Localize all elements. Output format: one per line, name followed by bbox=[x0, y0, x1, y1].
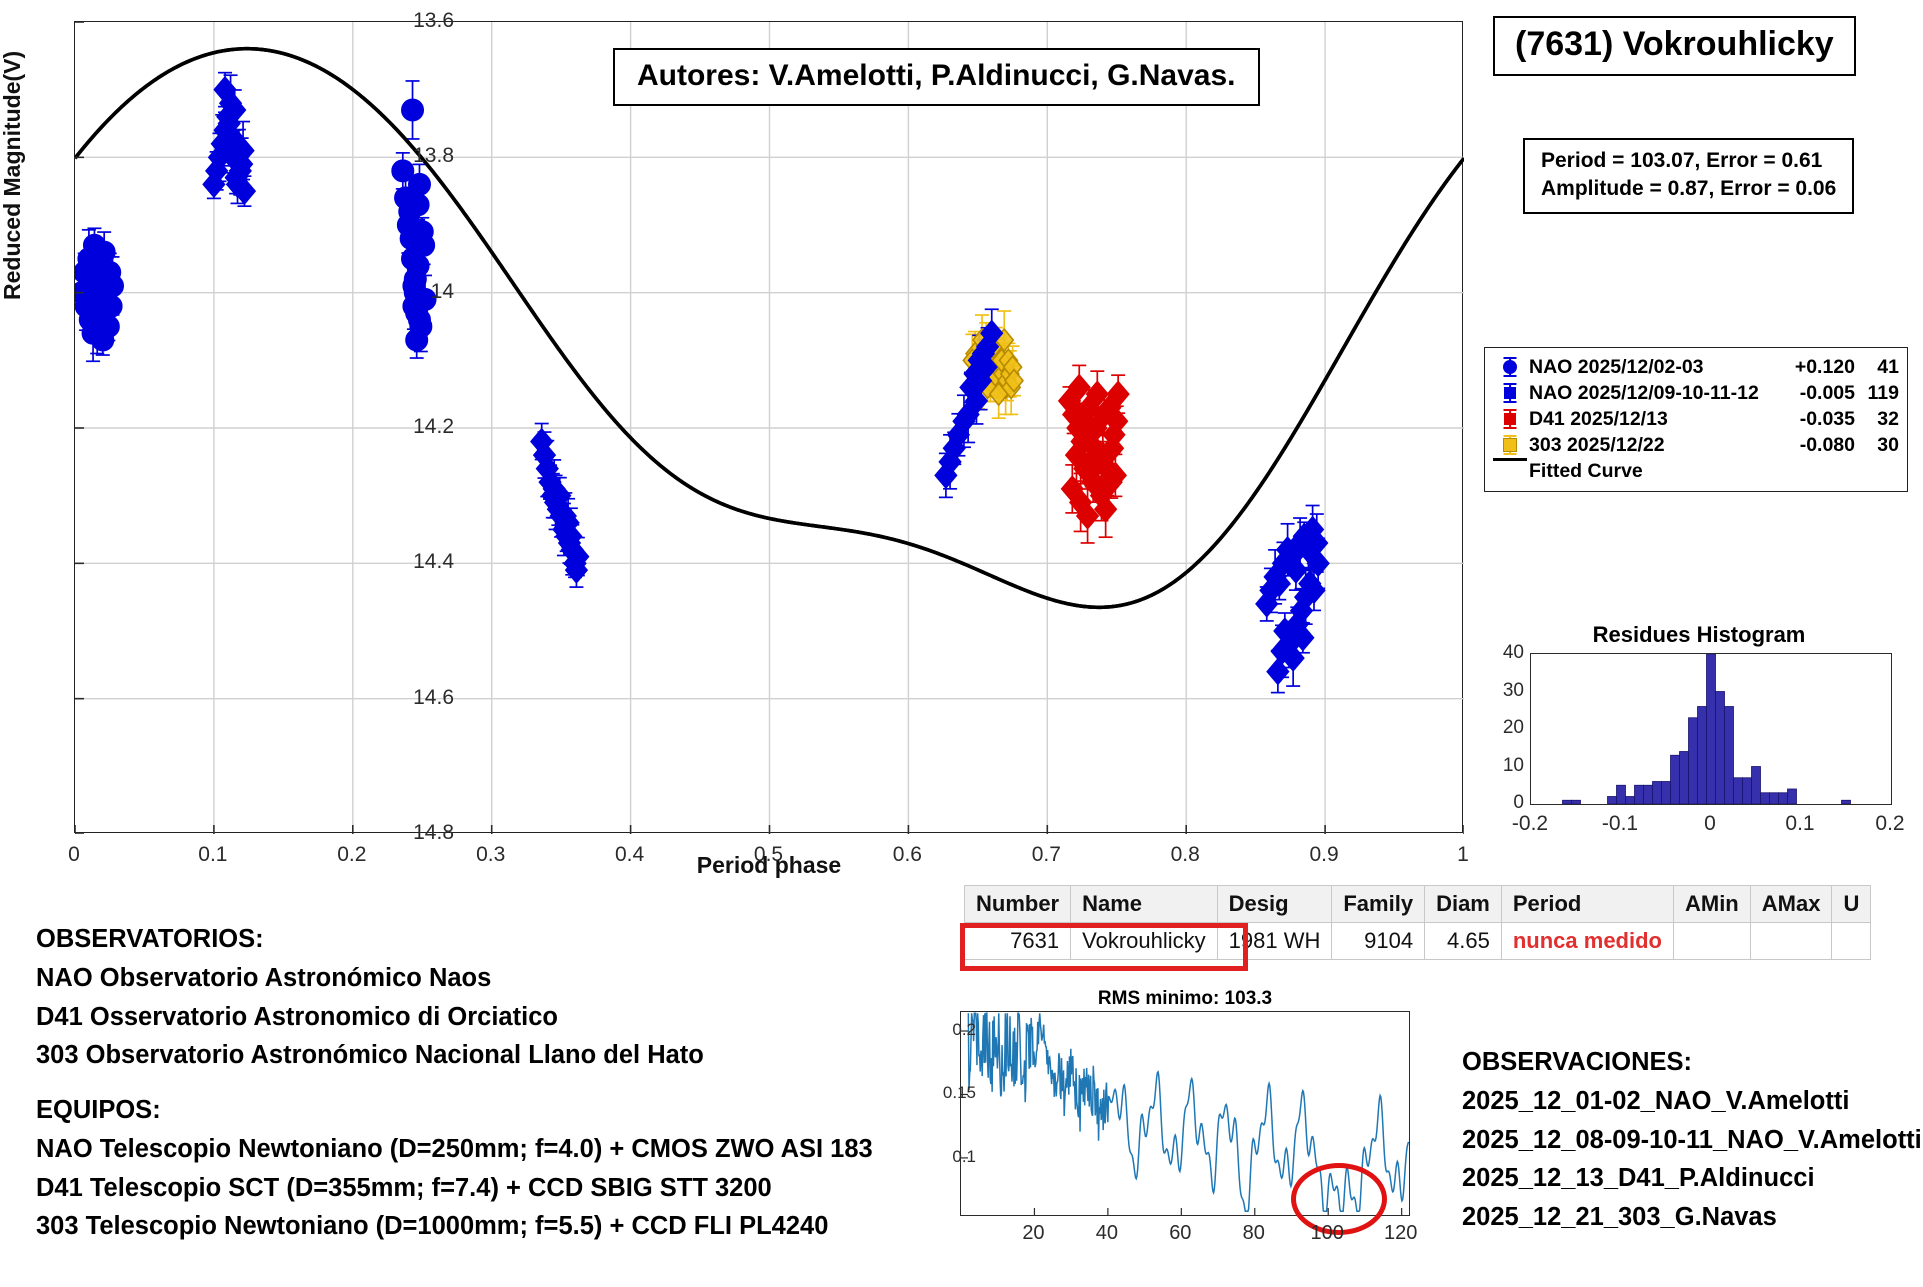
histogram-y-tick-label: 0 bbox=[1513, 792, 1524, 814]
amplitude-line: Amplitude = 0.87, Error = 0.06 bbox=[1541, 175, 1836, 203]
legend-errorbar-cap-icon bbox=[1504, 435, 1517, 437]
period-line: Period = 103.07, Error = 0.61 bbox=[1541, 147, 1836, 175]
observatorios-line-1: D41 Osservatorio Astronomico di Orciatic… bbox=[36, 998, 873, 1037]
diamond-marker-icon bbox=[1503, 438, 1517, 452]
legend-item-3[interactable]: 303 2025/12/22-0.08030 bbox=[1485, 432, 1907, 458]
rms-x-tick-label: 120 bbox=[1384, 1222, 1417, 1245]
histogram-x-tick-label: 0 bbox=[1704, 812, 1716, 836]
x-tick-label: 0.2 bbox=[337, 843, 366, 867]
diamond-marker-icon bbox=[1504, 387, 1516, 399]
table-row[interactable]: 7631Vokrouhlicky1981 WH91044.65nunca med… bbox=[965, 923, 1871, 960]
legend-series-name: NAO 2025/12/09-10-11-12 bbox=[1529, 382, 1781, 405]
y-tick-label: 14.2 bbox=[413, 415, 454, 439]
rms-x-tick-label: 80 bbox=[1243, 1222, 1265, 1245]
histogram-x-tick-label: 0.1 bbox=[1785, 812, 1814, 836]
rms-x-tick-label: 40 bbox=[1096, 1222, 1118, 1245]
table-cell-name: Vokrouhlicky bbox=[1071, 923, 1218, 960]
asteroid-info-table: NumberNameDesigFamilyDiamPeriodAMinAMaxU… bbox=[964, 885, 1871, 960]
observaciones-line-2: 2025_12_13_D41_P.Aldinucci bbox=[1462, 1159, 1922, 1198]
legend-fitted-curve-label: Fitted Curve bbox=[1529, 460, 1899, 483]
legend-marker-icon bbox=[1491, 432, 1529, 458]
histogram-y-tick-label: 20 bbox=[1503, 717, 1524, 739]
x-tick-label: 0.9 bbox=[1309, 843, 1338, 867]
equipos-heading: EQUIPOS: bbox=[36, 1091, 873, 1130]
y-tick-label: 13.6 bbox=[413, 9, 454, 33]
legend-item-1[interactable]: NAO 2025/12/09-10-11-12-0.005119 bbox=[1485, 380, 1907, 406]
x-tick-label: 0 bbox=[68, 843, 80, 867]
y-tick-label: 13.8 bbox=[413, 144, 454, 168]
period-amplitude-box: Period = 103.07, Error = 0.61 Amplitude … bbox=[1523, 138, 1854, 214]
x-tick-label: 0.1 bbox=[198, 843, 227, 867]
residues-histogram-panel: Residues Histogram 010203040-0.2-0.100.1… bbox=[1484, 622, 1914, 868]
chart-legend: NAO 2025/12/02-03+0.12041NAO 2025/12/09-… bbox=[1484, 347, 1908, 492]
table-cell-desig: 1981 WH bbox=[1217, 923, 1332, 960]
x-axis-label: Period phase bbox=[697, 852, 841, 879]
x-tick-label: 0.4 bbox=[615, 843, 644, 867]
observatorios-line-2: 303 Observatorio Astronómico Nacional Ll… bbox=[36, 1036, 873, 1075]
x-tick-label: 0.6 bbox=[893, 843, 922, 867]
table-header-period: Period bbox=[1501, 886, 1673, 923]
rms-y-tick-label: 0.1 bbox=[952, 1147, 976, 1167]
legend-series-count: 41 bbox=[1855, 356, 1899, 379]
observatorios-line-0: NAO Observatorio Astronómico Naos bbox=[36, 959, 873, 998]
observatorios-equipos-block: OBSERVATORIOS: NAO Observatorio Astronóm… bbox=[36, 920, 873, 1246]
table-cell-diam: 4.65 bbox=[1425, 923, 1502, 960]
rms-y-tick-label: 0.15 bbox=[943, 1083, 976, 1103]
lightcurve-plot-panel bbox=[74, 21, 1463, 833]
legend-series-count: 119 bbox=[1855, 382, 1899, 405]
table-header-amin: AMin bbox=[1673, 886, 1750, 923]
legend-line-icon bbox=[1491, 458, 1529, 484]
rms-x-tick-label: 20 bbox=[1022, 1222, 1044, 1245]
table-cell-number: 7631 bbox=[965, 923, 1071, 960]
legend-series-name: 303 2025/12/22 bbox=[1529, 434, 1781, 457]
table-cell-u bbox=[1832, 923, 1871, 960]
legend-errorbar-cap-icon bbox=[1504, 383, 1517, 385]
table-cell-amin bbox=[1673, 923, 1750, 960]
legend-series-offset: -0.080 bbox=[1781, 434, 1855, 457]
legend-item-0[interactable]: NAO 2025/12/02-03+0.12041 bbox=[1485, 354, 1907, 380]
residues-histogram-title: Residues Histogram bbox=[1593, 622, 1806, 648]
legend-item-2[interactable]: D41 2025/12/13-0.03532 bbox=[1485, 406, 1907, 432]
table-header-u: U bbox=[1832, 886, 1871, 923]
x-tick-label: 0.8 bbox=[1171, 843, 1200, 867]
rms-periodogram-title: RMS minimo: 103.3 bbox=[1098, 988, 1272, 1010]
table-header-amax: AMax bbox=[1750, 886, 1832, 923]
observaciones-heading: OBSERVACIONES: bbox=[1462, 1043, 1922, 1082]
observaciones-line-1: 2025_12_08-09-10-11_NAO_V.Amelotti bbox=[1462, 1121, 1922, 1160]
fitted-curve-line-icon bbox=[1493, 458, 1527, 461]
histogram-y-tick-label: 30 bbox=[1503, 680, 1524, 702]
legend-marker-icon bbox=[1491, 380, 1529, 406]
rms-y-tick-label: 0.2 bbox=[952, 1020, 976, 1040]
legend-series-name: D41 2025/12/13 bbox=[1529, 408, 1781, 431]
x-tick-label: 0.3 bbox=[476, 843, 505, 867]
table-body: 7631Vokrouhlicky1981 WH91044.65nunca med… bbox=[965, 923, 1871, 960]
residues-histogram-plot bbox=[1530, 653, 1892, 805]
table-header-row: NumberNameDesigFamilyDiamPeriodAMinAMaxU bbox=[965, 886, 1871, 923]
observaciones-line-3: 2025_12_21_303_G.Navas bbox=[1462, 1198, 1922, 1237]
circle-marker-icon bbox=[1503, 360, 1517, 374]
table-header-family: Family bbox=[1332, 886, 1425, 923]
y-axis-label: Reduced Magnitude(V) bbox=[0, 51, 26, 300]
authors-annotation-box: Autores: V.Amelotti, P.Aldinucci, G.Nava… bbox=[613, 48, 1260, 106]
legend-errorbar-cap-icon bbox=[1504, 375, 1517, 377]
table-cell-family: 9104 bbox=[1332, 923, 1425, 960]
histogram-x-tick-label: -0.1 bbox=[1602, 812, 1638, 836]
page-title: (7631) Vokrouhlicky bbox=[1493, 16, 1856, 76]
legend-errorbar-cap-icon bbox=[1504, 453, 1517, 455]
legend-item-fitted-curve[interactable]: Fitted Curve bbox=[1485, 458, 1907, 484]
y-tick-label: 14.4 bbox=[413, 550, 454, 574]
histogram-x-tick-label: -0.2 bbox=[1512, 812, 1548, 836]
equipos-line-2: 303 Telescopio Newtoniano (D=1000mm; f=5… bbox=[36, 1207, 873, 1246]
equipos-line-0: NAO Telescopio Newtoniano (D=250mm; f=4.… bbox=[36, 1130, 873, 1169]
legend-errorbar-cap-icon bbox=[1504, 427, 1517, 429]
legend-series-count: 32 bbox=[1855, 408, 1899, 431]
diamond-marker-icon bbox=[1504, 413, 1516, 425]
legend-series-offset: +0.120 bbox=[1781, 356, 1855, 379]
legend-marker-icon bbox=[1491, 406, 1529, 432]
legend-series-offset: -0.005 bbox=[1781, 382, 1855, 405]
residues-histogram-svg bbox=[1531, 654, 1891, 804]
rms-x-tick-label: 60 bbox=[1169, 1222, 1191, 1245]
y-tick-label: 14.6 bbox=[413, 686, 454, 710]
table-cell-amax bbox=[1750, 923, 1832, 960]
histogram-y-tick-label: 10 bbox=[1503, 755, 1524, 777]
table-cell-period: nunca medido bbox=[1501, 923, 1673, 960]
observaciones-block: OBSERVACIONES: 2025_12_01-02_NAO_V.Amelo… bbox=[1462, 1043, 1922, 1237]
legend-series-count: 30 bbox=[1855, 434, 1899, 457]
legend-errorbar-cap-icon bbox=[1504, 409, 1517, 411]
y-tick-label: 14.8 bbox=[413, 821, 454, 845]
histogram-y-tick-label: 40 bbox=[1503, 642, 1524, 664]
x-tick-label: 0.7 bbox=[1032, 843, 1061, 867]
table-header-name: Name bbox=[1071, 886, 1218, 923]
y-tick-label: 14 bbox=[431, 280, 454, 304]
lightcurve-svg bbox=[75, 22, 1464, 834]
table-header-diam: Diam bbox=[1425, 886, 1502, 923]
table-header-desig: Desig bbox=[1217, 886, 1332, 923]
equipos-line-1: D41 Telescopio SCT (D=355mm; f=7.4) + CC… bbox=[36, 1169, 873, 1208]
legend-marker-icon bbox=[1491, 354, 1529, 380]
observaciones-line-0: 2025_12_01-02_NAO_V.Amelotti bbox=[1462, 1082, 1922, 1121]
histogram-x-tick-label: 0.2 bbox=[1875, 812, 1904, 836]
block-spacer bbox=[36, 1075, 873, 1091]
legend-series-offset: -0.035 bbox=[1781, 408, 1855, 431]
x-tick-label: 1 bbox=[1457, 843, 1469, 867]
rms-periodogram-panel: RMS minimo: 103.3 0.10.150.2204060801001… bbox=[950, 988, 1420, 1278]
legend-series-name: NAO 2025/12/02-03 bbox=[1529, 356, 1781, 379]
table-header-number: Number bbox=[965, 886, 1071, 923]
rms-x-tick-label: 100 bbox=[1311, 1222, 1344, 1245]
legend-errorbar-cap-icon bbox=[1504, 401, 1517, 403]
legend-errorbar-cap-icon bbox=[1504, 357, 1517, 359]
observatorios-heading: OBSERVATORIOS: bbox=[36, 920, 873, 959]
